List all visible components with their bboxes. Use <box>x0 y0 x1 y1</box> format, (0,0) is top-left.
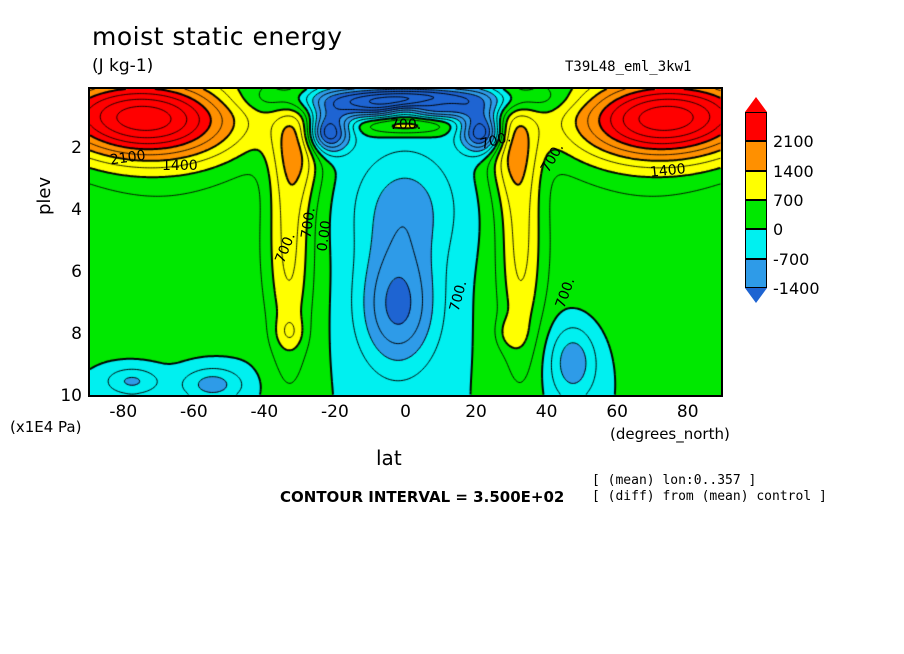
colorbar-segment <box>745 229 767 258</box>
colorbar-label: -700 <box>773 250 809 269</box>
chart-units: (J kg-1) <box>92 56 153 76</box>
colorbar-segment <box>745 141 767 170</box>
colorbar-label: 700 <box>773 191 804 210</box>
colorbar-label: -1400 <box>773 279 820 298</box>
colorbar-bottom-arrow <box>745 288 767 303</box>
x-tick-label: 80 <box>658 402 718 422</box>
run-identifier: T39L48_eml_3kw1 <box>565 59 691 75</box>
y-axis-units: (x1E4 Pa) <box>10 418 81 436</box>
x-tick-label: -20 <box>305 402 365 422</box>
colorbar-label: 1400 <box>773 162 814 181</box>
x-tick-label: 0 <box>376 402 436 422</box>
y-tick-label: 8 <box>48 324 82 344</box>
contour-line-label: 700. <box>390 117 421 133</box>
colorbar-segment <box>745 259 767 288</box>
x-tick-label: 20 <box>446 402 506 422</box>
x-tick-label: -40 <box>234 402 294 422</box>
note-mean-lon: [ (mean) lon:0..357 ] <box>592 473 756 488</box>
y-tick-label: 10 <box>48 386 82 406</box>
y-tick-label: 2 <box>48 138 82 158</box>
colorbar-segment <box>745 171 767 200</box>
x-tick-label: 60 <box>587 402 647 422</box>
x-axis-title: lat <box>376 446 402 470</box>
contour-line-label: 1400 <box>162 158 198 174</box>
y-tick-label: 6 <box>48 262 82 282</box>
x-tick-label: 40 <box>517 402 577 422</box>
colorbar: 210014007000-700-1400 <box>745 112 767 288</box>
colorbar-label: 2100 <box>773 132 814 151</box>
colorbar-segment <box>745 200 767 229</box>
contour-interval-label: CONTOUR INTERVAL = 3.500E+02 <box>280 488 564 506</box>
colorbar-label: 0 <box>773 220 783 239</box>
colorbar-top-arrow <box>745 97 767 112</box>
y-tick-label: 4 <box>48 200 82 220</box>
chart-title: moist static energy <box>92 22 343 51</box>
contour-plot-area <box>88 87 723 397</box>
colorbar-segment <box>745 112 767 141</box>
contour-canvas <box>90 89 721 395</box>
x-tick-label: -60 <box>164 402 224 422</box>
x-tick-label: -80 <box>93 402 153 422</box>
x-axis-units: (degrees_north) <box>610 425 730 443</box>
note-diff-control: [ (diff) from (mean) control ] <box>592 489 827 504</box>
